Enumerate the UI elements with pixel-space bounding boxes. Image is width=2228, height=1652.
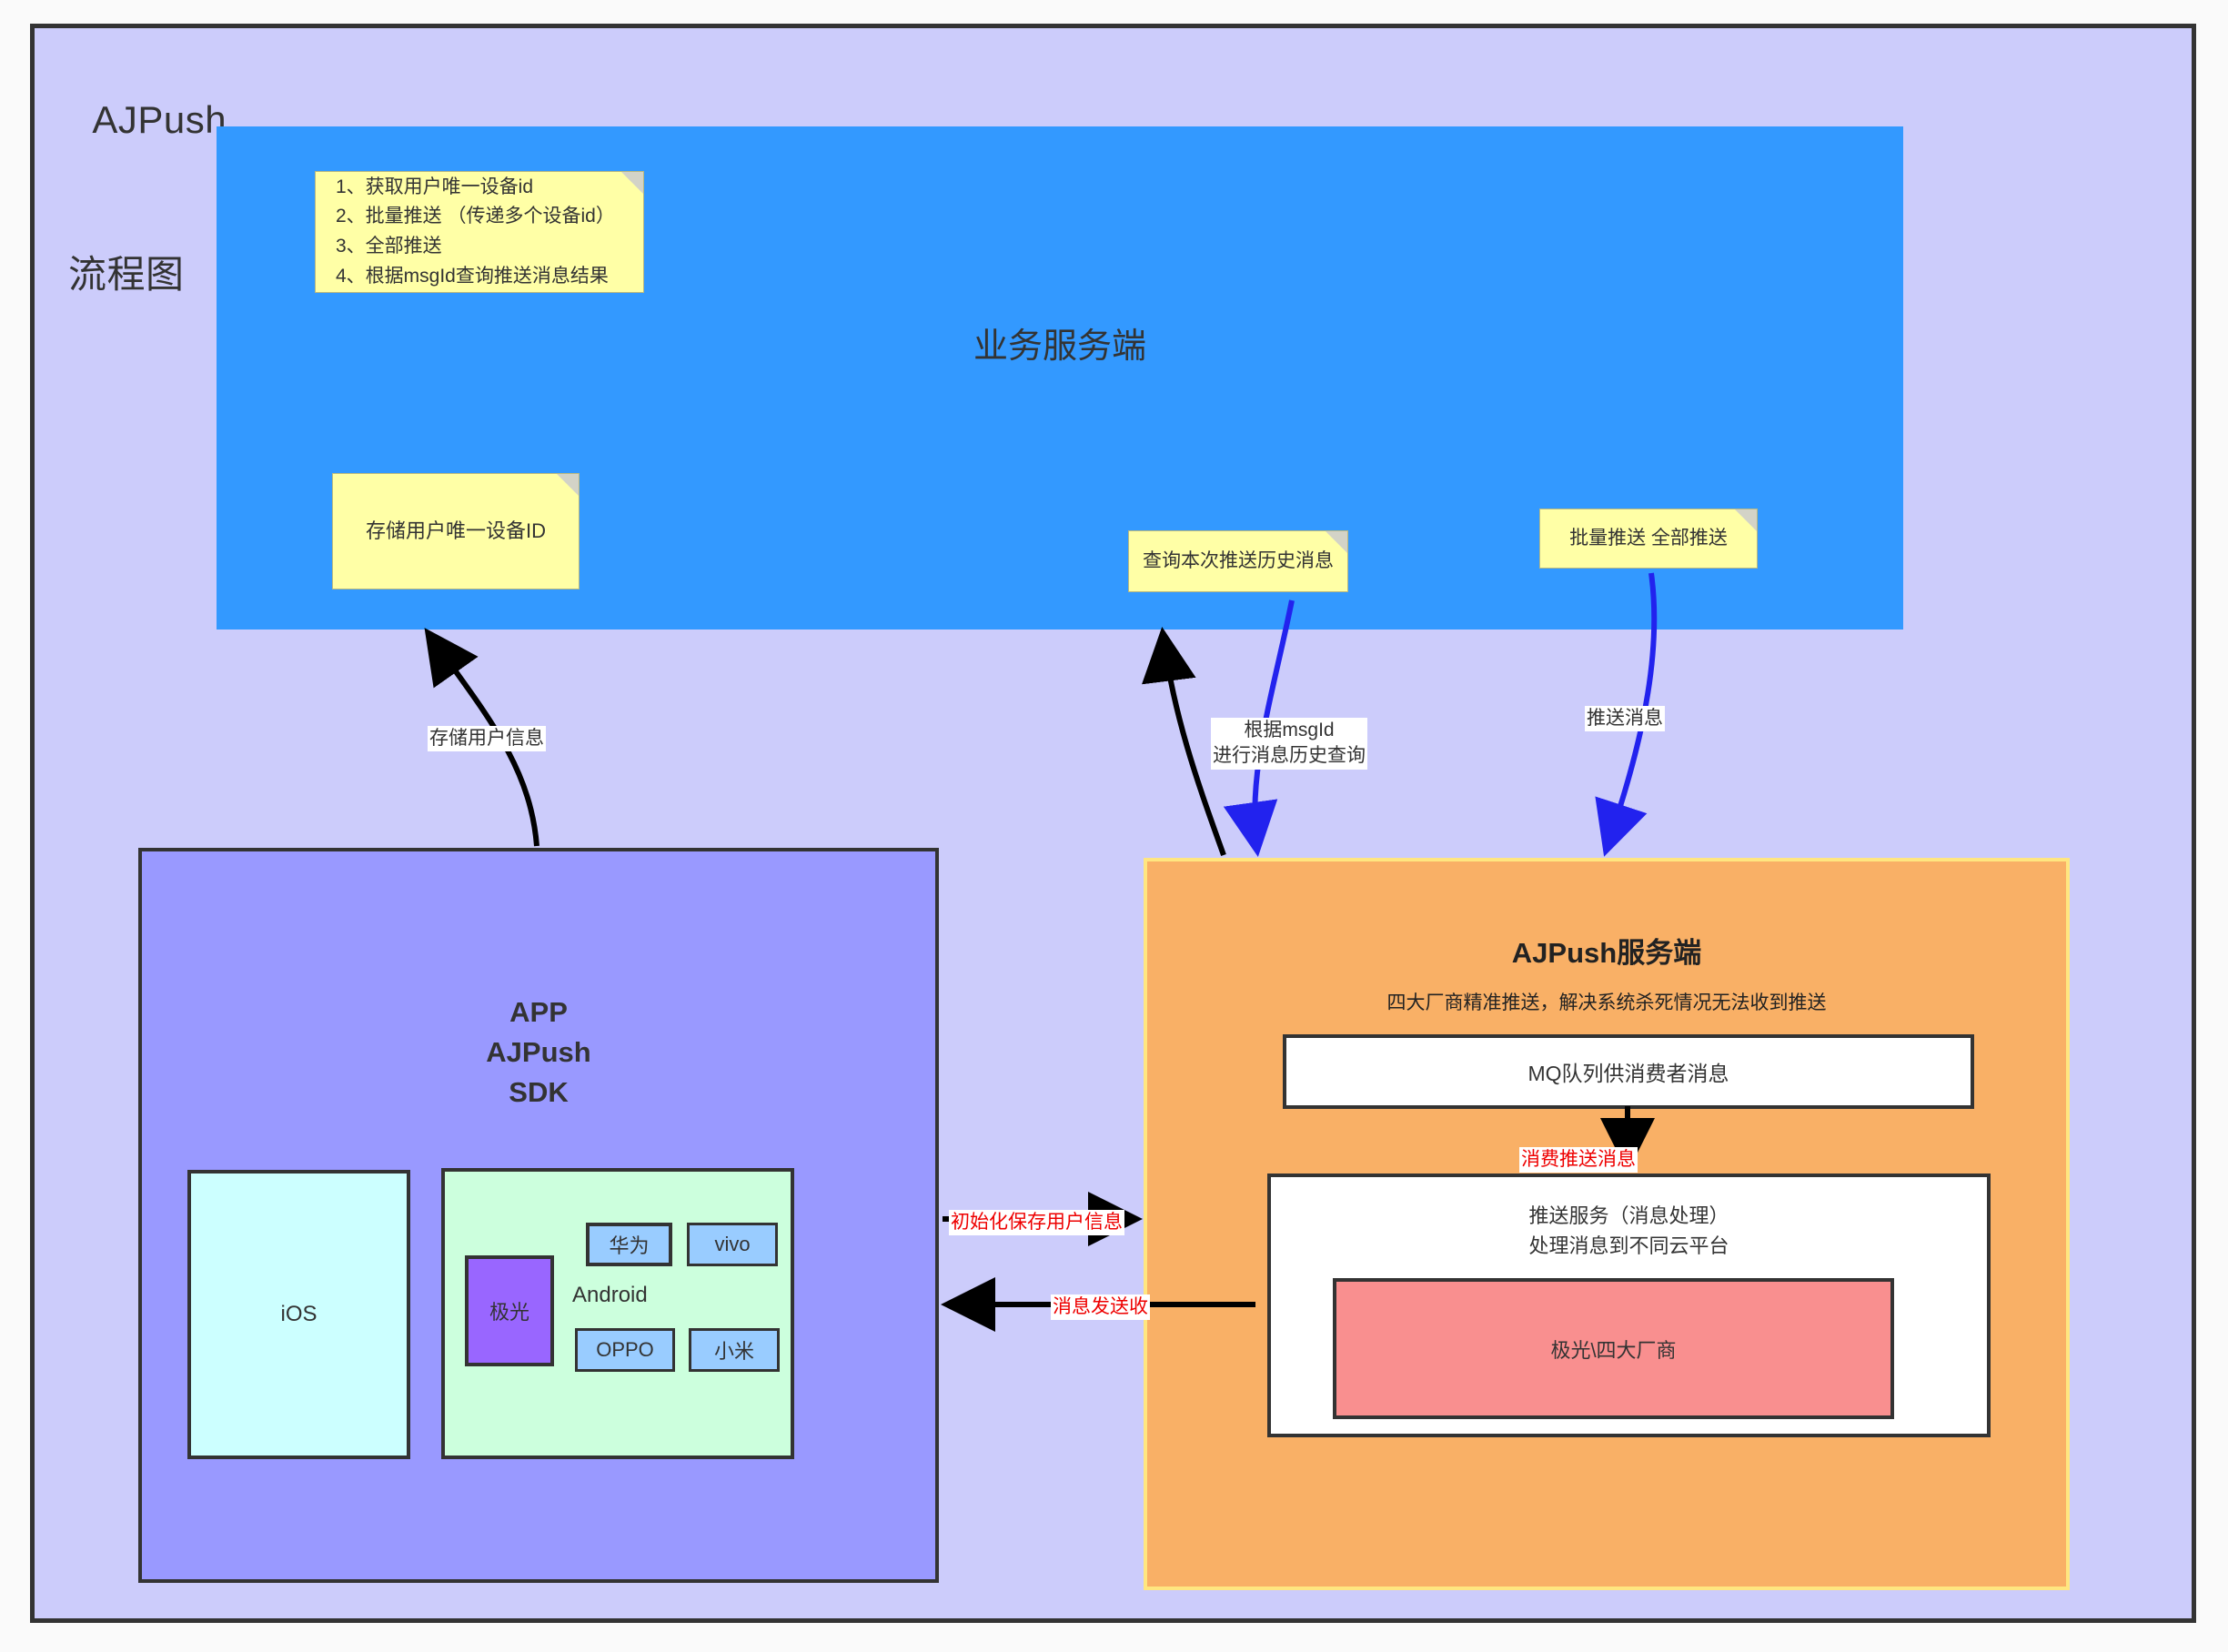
- note-query-history[interactable]: 查询本次推送历史消息: [1128, 530, 1348, 592]
- edge-label-query-by-msgid: 根据msgId 进行消息历史查询: [1211, 718, 1367, 770]
- note-query-history-text: 查询本次推送历史消息: [1143, 547, 1334, 577]
- vendor-oppo-label: OPPO: [596, 1338, 654, 1362]
- vendor-vivo-label: vivo: [714, 1233, 750, 1256]
- ajpush-server-subtitle: 四大厂商精准推送，解决系统杀死情况无法收到推送: [1147, 988, 2066, 1015]
- app-sdk-box[interactable]: APP AJPush SDK iOS Android 极光 华为 vivo OP…: [138, 848, 939, 1583]
- page-title-line2: 流程图: [50, 249, 227, 301]
- push-service-title: 推送服务（消息处理） 处理消息到不同云平台: [1271, 1201, 1987, 1261]
- business-server-label: 业务服务端: [217, 317, 1903, 368]
- vendor-huawei-box[interactable]: 华为: [586, 1223, 672, 1266]
- note-tasks[interactable]: 1、获取用户唯一设备id 2、批量推送 （传递多个设备id） 3、全部推送 4、…: [315, 171, 644, 293]
- note-fold-icon: [1326, 531, 1347, 553]
- jiguang-sdk-label: 极光: [489, 1296, 529, 1325]
- vendor-oppo-box[interactable]: OPPO: [575, 1328, 675, 1372]
- edge-label-consume-push-message: 消费推送消息: [1519, 1147, 1638, 1173]
- jiguang-sdk-box[interactable]: 极光: [465, 1255, 554, 1366]
- edge-label-message-send-receive: 消息发送收: [1051, 1294, 1150, 1320]
- ios-box[interactable]: iOS: [187, 1170, 410, 1459]
- note-store-device-id-text: 存储用户唯一设备ID: [366, 516, 546, 547]
- ajpush-server-box[interactable]: AJPush服务端 四大厂商精准推送，解决系统杀死情况无法收到推送 MQ队列供消…: [1144, 858, 2070, 1590]
- ios-label: iOS: [280, 1302, 317, 1327]
- push-vendors-label: 极光\四大厂商: [1550, 1335, 1676, 1364]
- note-fold-icon: [621, 172, 643, 194]
- vendor-huawei-label: 华为: [609, 1230, 649, 1259]
- page-title: AJPush 流程图: [50, 43, 227, 404]
- page-title-line1: AJPush: [92, 98, 227, 141]
- note-fold-icon: [557, 474, 579, 496]
- mq-queue-box[interactable]: MQ队列供消费者消息: [1283, 1034, 1974, 1109]
- push-vendors-box[interactable]: 极光\四大厂商: [1333, 1278, 1894, 1419]
- vendor-xiaomi-label: 小米: [714, 1335, 754, 1365]
- push-service-box[interactable]: 推送服务（消息处理） 处理消息到不同云平台 极光\四大厂商: [1267, 1174, 1991, 1437]
- vendor-vivo-box[interactable]: vivo: [687, 1223, 778, 1266]
- android-label: Android: [572, 1283, 648, 1308]
- diagram-page: AJPush 流程图 业务服务端 1、获取用户唯一设备id 2、批量推送 （传递…: [0, 0, 2228, 1652]
- ajpush-server-title: AJPush服务端: [1147, 930, 2066, 971]
- app-sdk-title: APP AJPush SDK: [142, 992, 935, 1113]
- note-tasks-text: 1、获取用户唯一设备id 2、批量推送 （传递多个设备id） 3、全部推送 4、…: [336, 173, 615, 291]
- note-fold-icon: [1735, 509, 1757, 531]
- note-batch-push[interactable]: 批量推送 全部推送: [1539, 509, 1758, 569]
- android-box[interactable]: Android 极光 华为 vivo OPPO 小米: [441, 1168, 794, 1459]
- edge-label-store-user-info: 存储用户信息: [428, 726, 546, 751]
- note-batch-push-text: 批量推送 全部推送: [1569, 524, 1728, 553]
- edge-label-push-message: 推送消息: [1585, 706, 1665, 731]
- note-store-device-id[interactable]: 存储用户唯一设备ID: [332, 473, 580, 589]
- vendor-xiaomi-box[interactable]: 小米: [689, 1328, 780, 1372]
- edge-label-init-save-user-info: 初始化保存用户信息: [949, 1210, 1124, 1235]
- mq-queue-label: MQ队列供消费者消息: [1527, 1056, 1729, 1087]
